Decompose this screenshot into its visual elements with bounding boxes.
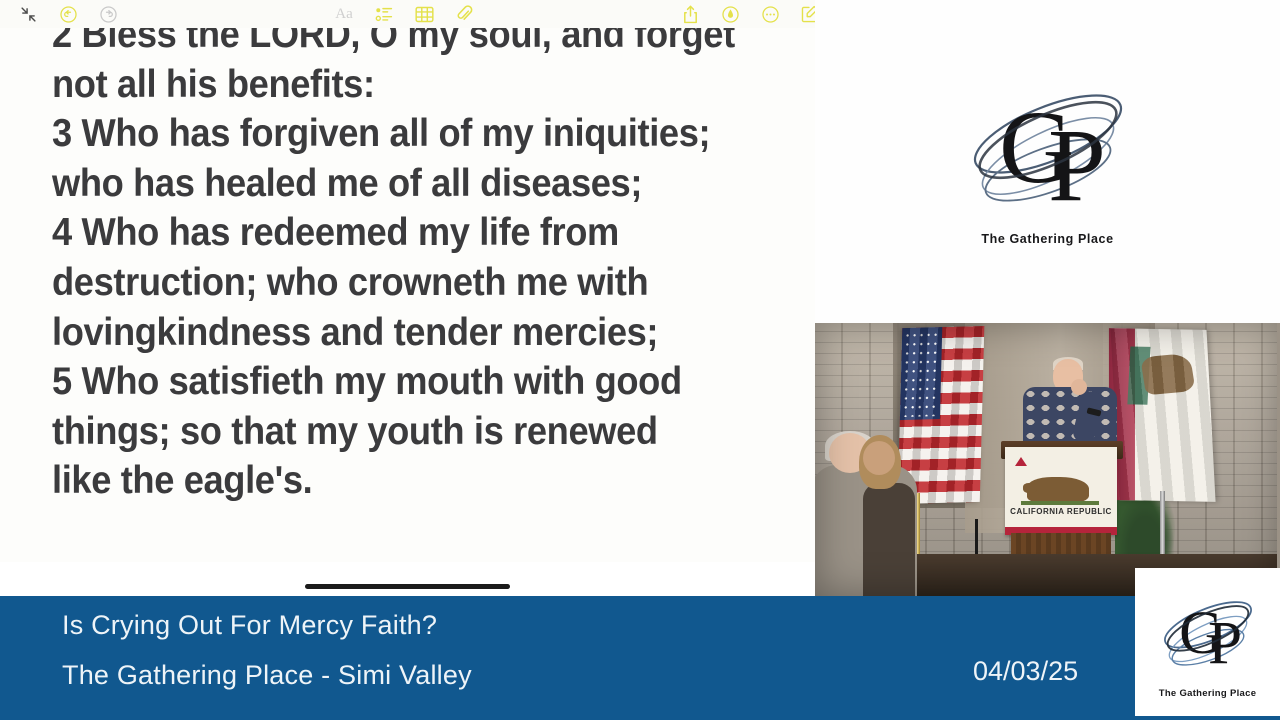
gathering-place-logo-icon: G P bbox=[953, 78, 1143, 228]
text-format-label: Aa bbox=[335, 6, 353, 23]
note-line: like the eagle's. bbox=[52, 456, 735, 506]
share-icon[interactable] bbox=[677, 1, 703, 27]
toolbar-center-group: Aa bbox=[324, 1, 484, 27]
note-line: not all his benefits: bbox=[52, 60, 735, 110]
logo-caption: The Gathering Place bbox=[981, 232, 1113, 246]
note-line: 3 Who has forgiven all of my iniquities; bbox=[52, 109, 735, 159]
note-line: lovingkindness and tender mercies; bbox=[52, 308, 735, 358]
redo-icon bbox=[95, 1, 121, 27]
note-line: things; so that my youth is renewed bbox=[52, 407, 735, 457]
home-indicator[interactable] bbox=[305, 584, 510, 589]
undo-icon[interactable] bbox=[55, 1, 81, 27]
text-format-icon: Aa bbox=[331, 1, 357, 27]
note-text-block: 2 Bless the LORD, O my soul, and forget … bbox=[52, 28, 786, 506]
collapse-icon[interactable] bbox=[15, 1, 41, 27]
logo-badge: G P The Gathering Place bbox=[1135, 568, 1280, 716]
svg-text:P: P bbox=[1208, 610, 1242, 678]
svg-text:P: P bbox=[1048, 108, 1106, 223]
logo-wrap: G P The Gathering Place bbox=[948, 78, 1148, 246]
gathering-place-badge-icon: G P bbox=[1152, 585, 1264, 687]
note-text-area[interactable]: 2 Bless the LORD, O my soul, and forget … bbox=[0, 28, 815, 568]
church-name: The Gathering Place - Simi Valley bbox=[62, 660, 472, 691]
checklist-icon[interactable] bbox=[371, 1, 397, 27]
markup-icon[interactable] bbox=[717, 1, 743, 27]
sermon-date: 04/03/25 bbox=[973, 656, 1078, 687]
logo-card: G P The Gathering Place bbox=[815, 0, 1280, 323]
note-line: 4 Who has redeemed my life from bbox=[52, 208, 735, 258]
screen-root: 2 Bless the LORD, O my soul, and forget … bbox=[0, 0, 1280, 720]
toolbar-left-group bbox=[8, 1, 128, 27]
note-line: 5 Who satisfieth my mouth with good bbox=[52, 357, 735, 407]
video-feed[interactable]: CALIFORNIA REPUBLIC bbox=[815, 323, 1280, 596]
note-line: destruction; who crowneth me with bbox=[52, 258, 735, 308]
logo-badge-caption: The Gathering Place bbox=[1159, 688, 1257, 699]
attachment-icon[interactable] bbox=[451, 1, 477, 27]
notes-app-pane: 2 Bless the LORD, O my soul, and forget … bbox=[0, 0, 815, 596]
sermon-title: Is Crying Out For Mercy Faith? bbox=[62, 610, 437, 641]
toolbar-right-group bbox=[670, 1, 830, 27]
note-line: 2 Bless the LORD, O my soul, and forget bbox=[52, 28, 735, 60]
note-line: who has healed me of all diseases; bbox=[52, 159, 735, 209]
more-icon[interactable] bbox=[757, 1, 783, 27]
video-vignette bbox=[815, 323, 1280, 596]
table-icon[interactable] bbox=[411, 1, 437, 27]
lower-third-banner: Is Crying Out For Mercy Faith? The Gathe… bbox=[0, 596, 1280, 720]
note-bottom-area bbox=[0, 562, 815, 596]
